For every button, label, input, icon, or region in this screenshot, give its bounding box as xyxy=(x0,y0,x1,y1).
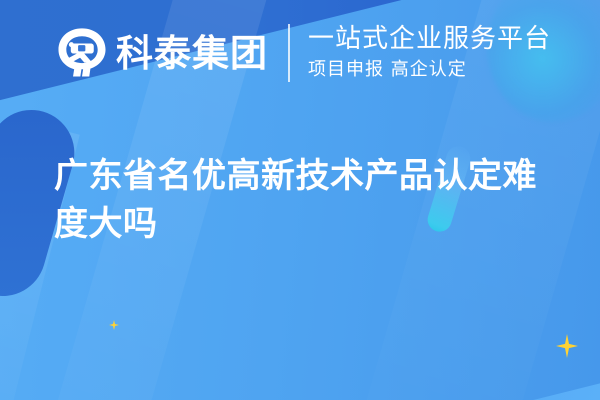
ketai-group-logo-icon xyxy=(54,25,110,81)
slogan-block: 一站式企业服务平台 项目申报 高企认定 xyxy=(308,25,551,82)
soft-blue-blob xyxy=(0,136,56,264)
banner-header: 科泰集团 一站式企业服务平台 项目申报 高企认定 xyxy=(54,24,551,82)
sparkle-star-large-icon xyxy=(556,334,578,358)
brand-name: 科泰集团 xyxy=(116,35,268,72)
slogan-sub: 项目申报 高企认定 xyxy=(308,59,551,82)
brand-lockup: 科泰集团 xyxy=(54,25,268,81)
page-title: 广东省名优高新技术产品认定难度大吗 xyxy=(54,152,564,249)
slogan-main: 一站式企业服务平台 xyxy=(308,25,551,54)
sparkle-star-small-icon xyxy=(109,320,119,330)
promo-banner: 科泰集团 一站式企业服务平台 项目申报 高企认定 广东省名优高新技术产品认定难度… xyxy=(0,0,600,400)
header-divider xyxy=(288,24,290,82)
